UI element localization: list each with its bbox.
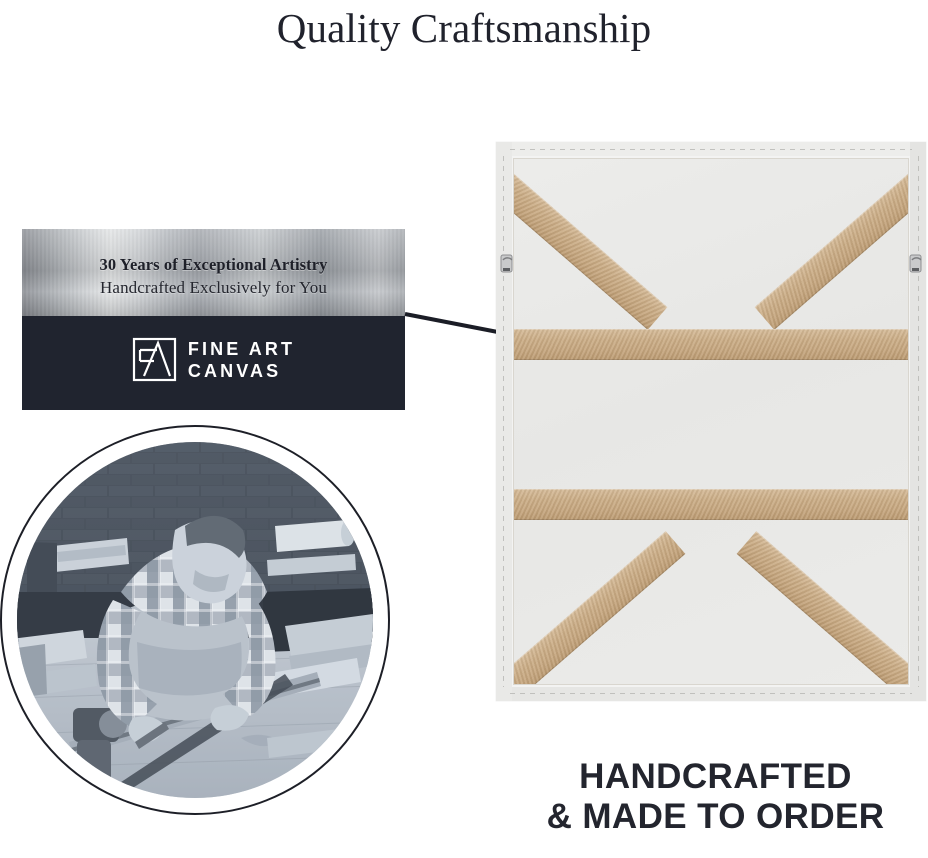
page-title: Quality Craftsmanship bbox=[0, 2, 928, 54]
brand-wordmark-line1: FINE ART bbox=[188, 340, 295, 358]
bottom-headline-line2: & MADE TO ORDER bbox=[513, 797, 918, 837]
plaque-navy-panel: FINE ART CANVAS bbox=[22, 316, 405, 410]
plaque-silver-panel: 30 Years of Exceptional Artistry Handcra… bbox=[22, 229, 405, 316]
craftsman-photo bbox=[17, 442, 373, 798]
hanging-hardware bbox=[496, 142, 926, 701]
brand-wordmark-line2: CANVAS bbox=[188, 362, 295, 380]
brand-logo: FINE ART CANVAS bbox=[22, 337, 405, 382]
canvas-back-image bbox=[496, 142, 926, 701]
bottom-headline: HANDCRAFTED & MADE TO ORDER bbox=[513, 757, 918, 837]
brand-plaque: 30 Years of Exceptional Artistry Handcra… bbox=[22, 229, 405, 410]
product-infographic: Quality Craftsmanship 30 Years of Except… bbox=[0, 0, 928, 858]
bottom-headline-line1: HANDCRAFTED bbox=[513, 757, 918, 797]
plaque-subhead: Handcrafted Exclusively for You bbox=[22, 278, 405, 298]
plaque-headline: 30 Years of Exceptional Artistry bbox=[22, 255, 405, 275]
craftsman-photo-illustration bbox=[17, 442, 373, 798]
d-ring-hanger-right bbox=[910, 255, 921, 272]
brand-wordmark: FINE ART CANVAS bbox=[188, 340, 295, 380]
d-ring-hanger-left bbox=[501, 255, 512, 272]
fine-art-canvas-monogram-icon bbox=[132, 337, 177, 382]
